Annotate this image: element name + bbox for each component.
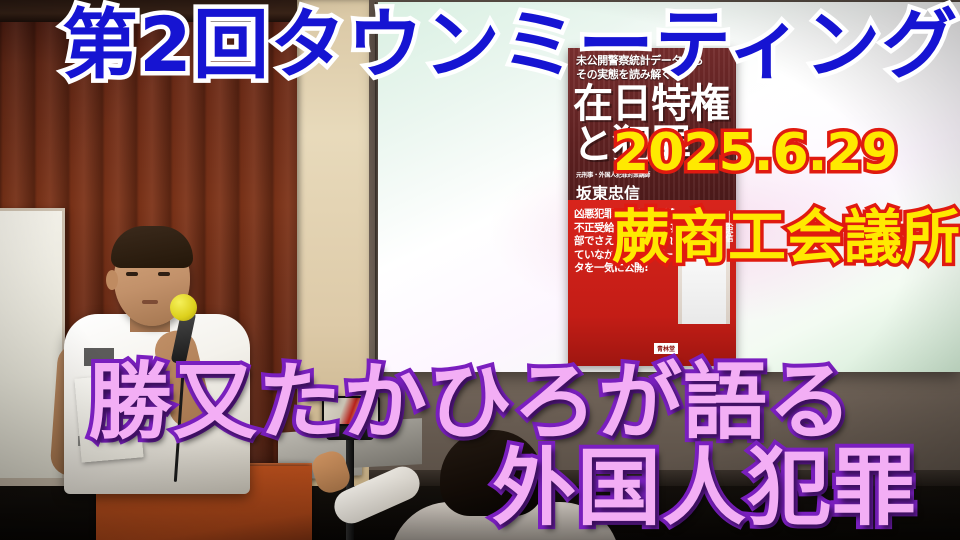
phone-screen xyxy=(324,398,378,424)
book-author-kicker: 元刑事・外国人犯罪対策講師 xyxy=(576,168,650,184)
book-title-line1: 在日特権 xyxy=(573,81,729,127)
book-obi-band: 凶悪犯罪から生活保護不正受給まで、警察内部でさえ明らかにされていなかった詳細デー… xyxy=(568,200,736,366)
video-thumbnail: 未公開警察統計データから その実態を読み解く! 在日特権 と犯罪 元刑事・外国人… xyxy=(0,0,960,540)
publisher-stamp: 青林堂 xyxy=(654,343,678,354)
book-lead-text: 未公開警察統計データから その実態を読み解く! xyxy=(576,54,730,82)
author-photo-body xyxy=(682,248,726,324)
author-photo-head xyxy=(691,220,717,250)
book-lead-line2: その実態を読み解く! xyxy=(576,68,676,81)
speaker-ear xyxy=(106,270,118,290)
speaker-figure xyxy=(54,226,260,486)
speaker-mouth xyxy=(142,300,158,304)
book-title: 在日特権 と犯罪 xyxy=(573,84,732,166)
operator-head xyxy=(440,430,544,516)
book-obi-text: 凶悪犯罪から生活保護不正受給まで、警察内部でさえ明らかにされていなかった詳細デー… xyxy=(574,208,678,276)
held-document xyxy=(74,373,143,462)
book-obi-vertical-name: 坂東忠信 xyxy=(725,210,734,242)
author-photo xyxy=(678,214,730,324)
projected-book-cover: 未公開警察統計データから その実態を読み解く! 在日特権 と犯罪 元刑事・外国人… xyxy=(568,48,736,366)
speaker-eye-left xyxy=(126,272,138,276)
book-author: 元刑事・外国人犯罪対策講師 坂東忠信 xyxy=(576,168,650,202)
book-lead-line1: 未公開警察統計データから xyxy=(576,54,703,67)
book-title-line2: と犯罪 xyxy=(573,122,690,168)
book-cover-upper: 未公開警察統計データから その実態を読み解く! 在日特権 と犯罪 元刑事・外国人… xyxy=(568,48,736,200)
tshirt-logo xyxy=(84,348,114,366)
speaker-eye-right xyxy=(158,272,170,276)
microphone-head xyxy=(170,294,197,321)
phone-on-tripod xyxy=(322,396,380,426)
ceiling-beam xyxy=(0,0,300,22)
speaker-hair xyxy=(111,226,193,268)
camera-operator xyxy=(398,430,608,540)
